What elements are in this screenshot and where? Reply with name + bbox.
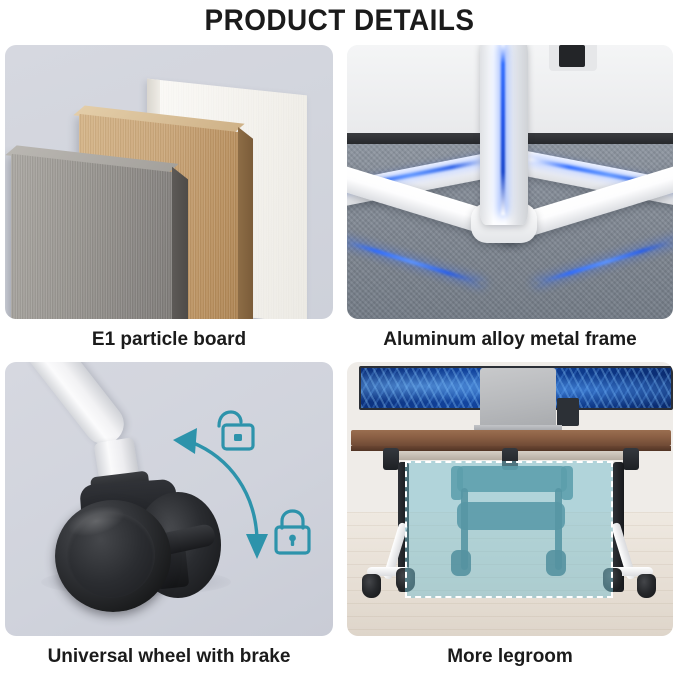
laptop-screen xyxy=(480,368,556,426)
frame-mount-slot xyxy=(559,45,585,67)
panel-image-e1-particle-board xyxy=(5,45,333,319)
panel-caption-universal-wheel: Universal wheel with brake xyxy=(5,636,333,674)
unlocked-lock-icon xyxy=(219,412,253,449)
panel-e1-particle-board: E1 particle board xyxy=(5,45,333,357)
frame-mount-bracket xyxy=(549,45,597,71)
locked-lock-icon xyxy=(276,511,309,553)
panel-caption-e1-particle-board: E1 particle board xyxy=(5,319,333,357)
desk-top-surface xyxy=(351,430,671,446)
product-details-grid: E1 particle board Aluminum alloy metal f… xyxy=(0,40,679,668)
desk-caster-front-left xyxy=(362,574,381,598)
panel-caption-aluminum-frame: Aluminum alloy metal frame xyxy=(347,319,673,357)
panel-image-more-legroom xyxy=(347,362,673,636)
monitor-stand xyxy=(557,398,579,426)
legroom-highlight-area xyxy=(405,461,613,598)
panel-universal-wheel-with-brake: Universal wheel with brake xyxy=(5,362,333,674)
panel-aluminum-alloy-metal-frame: Aluminum alloy metal frame xyxy=(347,45,673,357)
panel-caption-more-legroom: More legroom xyxy=(347,636,673,674)
desk-bracket-left xyxy=(383,448,399,470)
desk-caster-front-right xyxy=(637,574,656,598)
gray-board xyxy=(11,154,173,319)
led-stripe-column xyxy=(501,45,505,215)
frame-center-column xyxy=(480,45,528,225)
page-title: PRODUCT DETAILS xyxy=(24,0,655,40)
panel-more-legroom: More legroom xyxy=(347,362,673,674)
wheel-annotations xyxy=(5,362,333,636)
panel-image-aluminum-frame xyxy=(347,45,673,319)
panel-image-universal-wheel xyxy=(5,362,333,636)
desk-bracket-right xyxy=(623,448,639,470)
